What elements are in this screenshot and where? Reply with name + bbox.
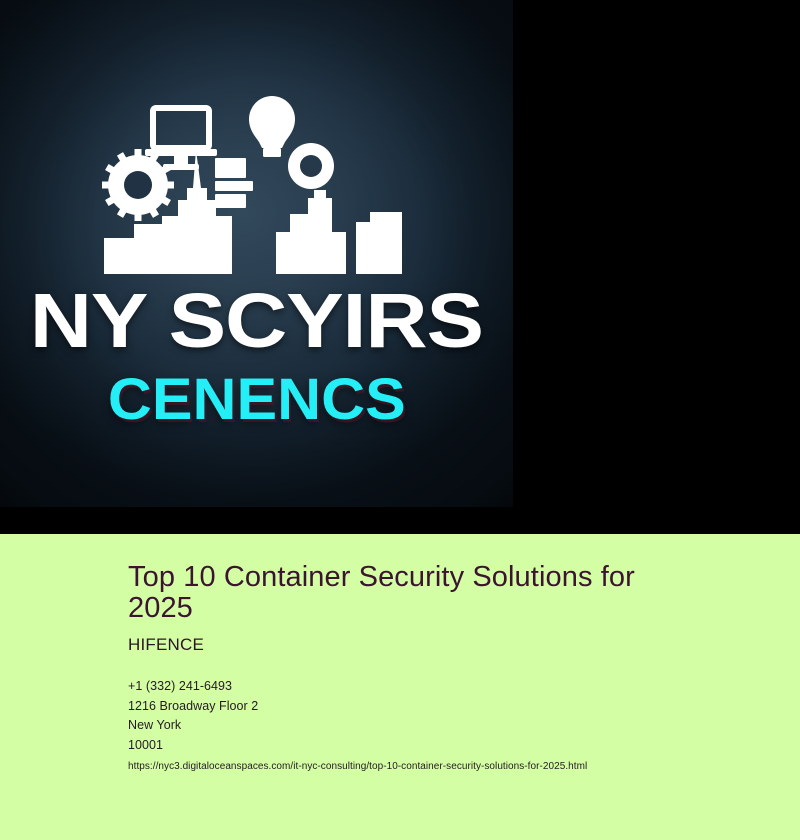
logo-wordmark-primary-text: NY SCYIRS — [30, 283, 483, 360]
contact-city: New York — [128, 716, 700, 736]
contact-phone[interactable]: +1 (332) 241-6493 — [128, 677, 700, 697]
document-stack-icon — [215, 158, 253, 208]
article-url[interactable]: https://nyc3.digitaloceanspaces.com/it-n… — [128, 758, 700, 776]
article-card: Top 10 Container Security Solutions for … — [0, 534, 800, 840]
hero-band: NY SCYIRS CENENCS — [0, 0, 800, 534]
lightbulb-icon — [249, 96, 295, 157]
logo-wordmark-primary: NY SCYIRS — [0, 283, 513, 360]
contact-block: +1 (332) 241-6493 1216 Broadway Floor 2 … — [128, 677, 700, 776]
contact-address-line1: 1216 Broadway Floor 2 — [128, 697, 700, 717]
logo-wordmark-secondary: CENENCS — [0, 371, 513, 429]
brand-name: HIFENCE — [128, 635, 700, 655]
ring-icon — [288, 143, 334, 189]
hero-image: NY SCYIRS CENENCS — [0, 0, 513, 507]
page-title: Top 10 Container Security Solutions for … — [128, 562, 700, 624]
logo-wordmark-secondary-text: CENENCS — [108, 371, 406, 429]
gear-icon — [102, 149, 174, 221]
contact-postal-code: 10001 — [128, 736, 700, 756]
